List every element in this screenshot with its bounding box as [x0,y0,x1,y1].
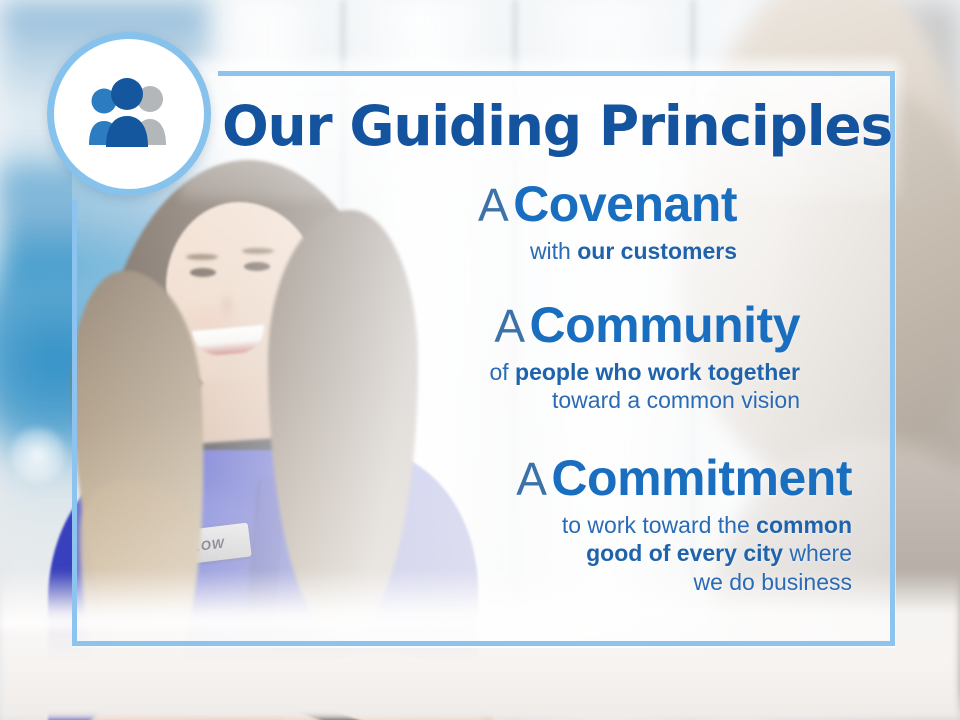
principle-covenant-sub-bold: our customers [577,238,737,264]
principle-community-sub-line-1: of people who work together [72,358,800,387]
principle-covenant-article: A [478,179,509,231]
page-title: Our Guiding Principles [222,99,882,154]
principle-community: A Community of people who work together … [72,300,872,415]
principle-community-subtext: of people who work together toward a com… [72,358,800,415]
principle-commitment-sub-line-3: we do business [72,568,852,597]
principle-community-sub1-regular: of [489,359,515,385]
principle-commitment: A Commitment to work toward the common g… [72,453,872,597]
text-content: Our Guiding Principles A Covenant with o… [72,71,895,646]
principle-commitment-sub1-bold: common [756,512,852,538]
principle-commitment-sub2-regular: where [783,540,852,566]
principles-list: A Covenant with our customers A Communit… [72,179,872,602]
principle-commitment-sub-line-2: good of every city where [72,539,852,568]
principle-commitment-word: Commitment [551,450,852,506]
principle-community-sub1-bold: people who work together [515,359,800,385]
principle-covenant-title: A Covenant [72,179,737,230]
principle-commitment-subtext: to work toward the common good of every … [72,511,852,597]
principle-commitment-sub-line-1: to work toward the common [72,511,852,540]
principle-covenant-word: Covenant [513,176,737,232]
principle-covenant: A Covenant with our customers [72,179,872,266]
principle-commitment-title: A Commitment [72,453,852,504]
principle-community-sub-line-2: toward a common vision [72,386,800,415]
principle-covenant-sub-regular: with [530,238,577,264]
principle-commitment-sub1-regular: to work toward the [562,512,756,538]
principle-community-article: A [494,300,525,352]
principle-covenant-subtext: with our customers [72,237,737,266]
guiding-principles-banner: FLOW FLOW [0,0,960,720]
principle-community-word: Community [530,297,801,353]
principle-commitment-article: A [516,453,547,505]
principle-community-title: A Community [72,300,800,351]
principle-commitment-sub2-bold: good of every city [586,540,783,566]
